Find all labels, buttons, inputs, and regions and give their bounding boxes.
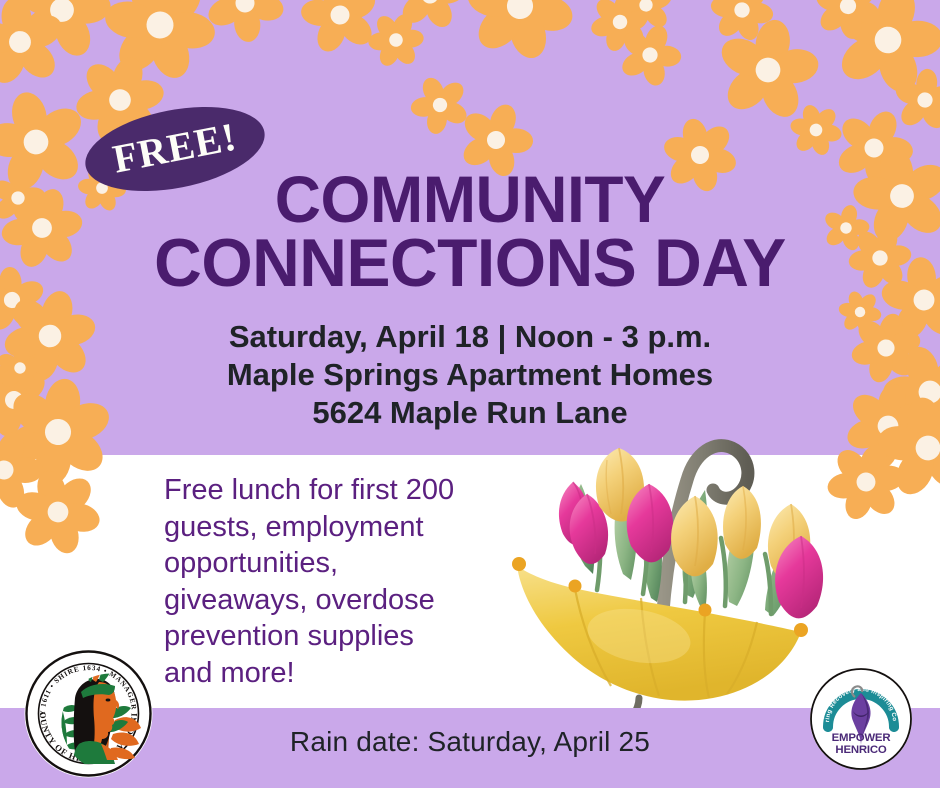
yellow-umbrella-with-tulips-icon (489, 398, 839, 708)
empower-wordmark-line-1: EMPOWER (832, 732, 891, 744)
henrico-county-seal-icon: CITY 1611 • SHIRE 1634 • MANAGER 1934 CO… (23, 648, 154, 779)
event-date-time: Saturday, April 18 | Noon - 3 p.m. (0, 318, 940, 356)
event-description: Free lunch for first 200 guests, employm… (164, 472, 494, 691)
headline-line-1: COMMUNITY (14, 168, 926, 231)
flyer-canvas: FREE! COMMUNITY CONNECTIONS DAY Saturday… (0, 0, 940, 788)
empower-henrico-logo-icon: Empowering Recovery and Inspiring Connec… (809, 667, 913, 771)
empower-wordmark-line-2: HENRICO (835, 744, 886, 756)
headline-line-2: CONNECTIONS DAY (14, 231, 926, 296)
description-line-2: guests, employment (164, 509, 494, 546)
description-line-3: opportunities, (164, 545, 494, 582)
description-line-5: prevention supplies (164, 618, 494, 655)
page-title: COMMUNITY CONNECTIONS DAY (14, 168, 926, 295)
description-line-1: Free lunch for first 200 (164, 472, 494, 509)
description-line-4: giveaways, overdose (164, 582, 494, 619)
description-line-6: and more! (164, 655, 494, 692)
event-venue: Maple Springs Apartment Homes (0, 356, 940, 394)
